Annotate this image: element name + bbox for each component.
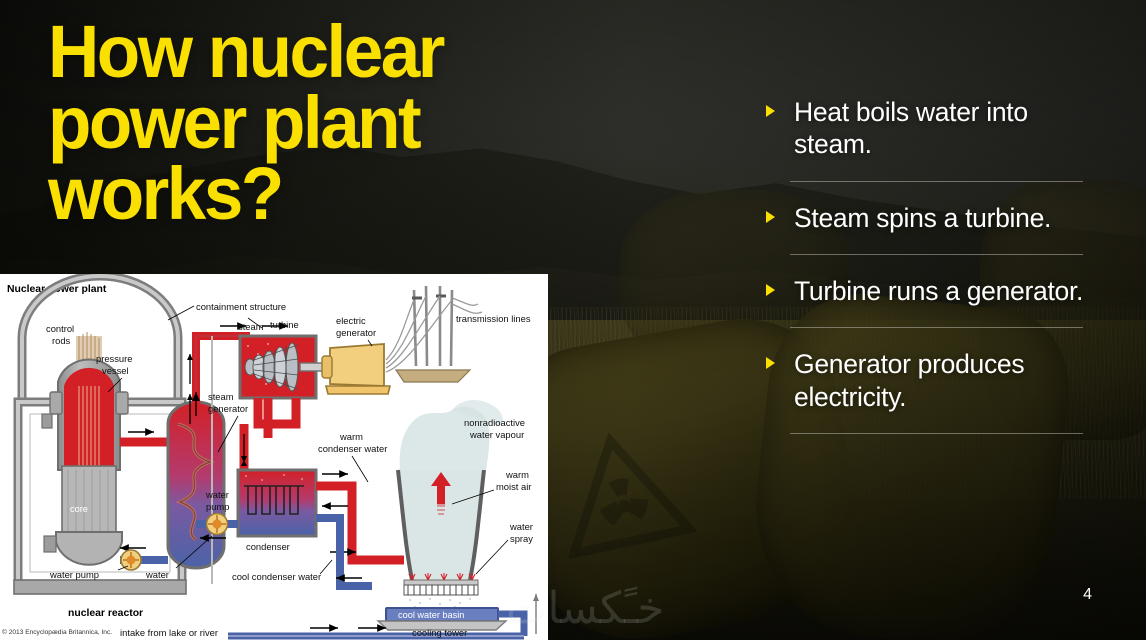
diagram-label-pressure-vessel-line2: vessel [102,365,129,376]
diagram-caption: nuclear reactor [68,608,143,619]
triangle-right-icon [766,357,775,369]
page-number: 4 [1083,586,1092,604]
diagram-credit: © 2013 Encyclopædia Britannica, Inc. [2,628,112,636]
diagram-label-control-rods-line1: control [46,323,74,334]
list-divider [790,433,1083,434]
list-item[interactable]: Generator produces electricity. [760,348,1090,413]
list-divider [790,327,1083,328]
diagram-label-water-pump-left: water pump [49,569,99,580]
diagram-label-cool-condenser-water: cool condenser water [232,571,321,582]
diagram-label-steam-generator-line2: generator [208,403,248,414]
list-item-label: Turbine runs a generator. [794,275,1090,307]
diagram-label-nonradioactive-line1: nonradioactive [464,417,525,428]
triangle-right-icon [766,284,775,296]
list-item-label: Generator produces electricity. [794,348,1090,413]
diagram-label-containment-structure: containment structure [196,301,286,312]
bullet-list: Heat boils water into steam. Steam spins… [760,96,1090,454]
diagram-label-warm-condenser-water-line1: warm [339,431,363,442]
diagram-label-cooling-tower: cooling tower [412,627,467,638]
nuclear-power-plant-diagram: Nuclear power plant [0,274,548,640]
diagram-label-steam-generator-line1: steam [208,391,234,402]
list-item-label: Heat boils water into steam. [794,96,1090,161]
diagram-label-pressure-vessel-line1: pressure [96,353,132,364]
diagram-label-electric-generator-line2: generator [336,327,376,338]
diagram-label-warm-condenser-water-line2: condenser water [318,443,387,454]
diagram-label-intake: intake from lake or river [120,627,218,638]
diagram-label-water-spray-line2: spray [510,533,533,544]
diagram-label-cool-water-basin: cool water basin [398,610,464,620]
diagram-label-water-pump-mid-line2: pump [206,501,229,512]
diagram-label-nonradioactive-line2: water vapour [469,429,524,440]
list-divider [790,254,1083,255]
diagram-label-electric-generator-line1: electric [336,315,366,326]
diagram-label-transmission-lines: transmission lines [456,313,531,324]
diagram-label-water-pump-mid-line1: water [205,489,229,500]
list-item-label: Steam spins a turbine. [794,202,1090,234]
diagram-label-water-spray-line1: water [509,521,533,532]
diagram-label-warm-moist-air-line1: warm [505,469,529,480]
list-item[interactable]: Heat boils water into steam. [760,96,1090,161]
list-divider [790,181,1083,182]
diagram-label-warm-moist-air-line2: moist air [496,481,531,492]
diagram-label-core: core [70,504,88,514]
diagram-label-water: water [145,569,169,580]
page-title: How nuclear power plant works? [48,16,586,229]
diagram-label-control-rods-line2: rods [52,335,71,346]
list-item[interactable]: Turbine runs a generator. [760,275,1090,307]
triangle-right-icon [766,105,775,117]
diagram-label-condenser: condenser [246,541,290,552]
slide-root: How nuclear power plant works? [0,0,1146,640]
diagram-label-turbine: turbine [270,319,299,330]
list-item[interactable]: Steam spins a turbine. [760,202,1090,234]
triangle-right-icon [766,211,775,223]
